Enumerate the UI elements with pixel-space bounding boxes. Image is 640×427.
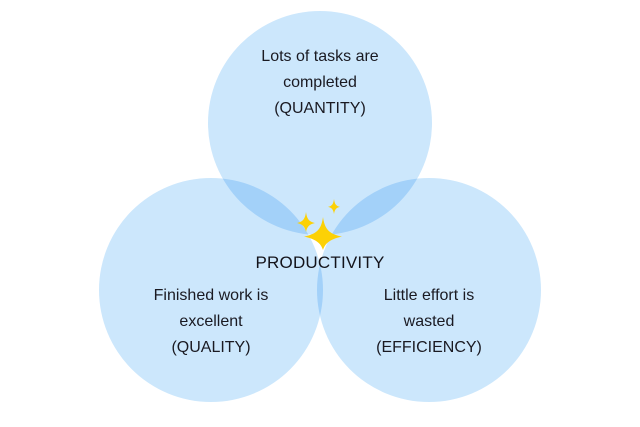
label-quantity-line-3: (QUANTITY) <box>180 96 460 122</box>
label-efficiency: Little effort is wasted (EFFICIENCY) <box>289 283 569 361</box>
productivity-label: PRODUCTIVITY <box>232 253 408 273</box>
venn-diagram: Lots of tasks are completed (QUANTITY) F… <box>0 0 640 427</box>
label-efficiency-line-1: Little effort is <box>289 283 569 309</box>
label-quantity: Lots of tasks are completed (QUANTITY) <box>180 44 460 122</box>
label-quantity-line-1: Lots of tasks are <box>180 44 460 70</box>
sparkles-icon <box>291 198 349 252</box>
label-efficiency-line-2: wasted <box>289 309 569 335</box>
center-intersection-group: PRODUCTIVITY <box>232 198 408 273</box>
label-efficiency-line-3: (EFFICIENCY) <box>289 335 569 361</box>
label-quantity-line-2: completed <box>180 70 460 96</box>
